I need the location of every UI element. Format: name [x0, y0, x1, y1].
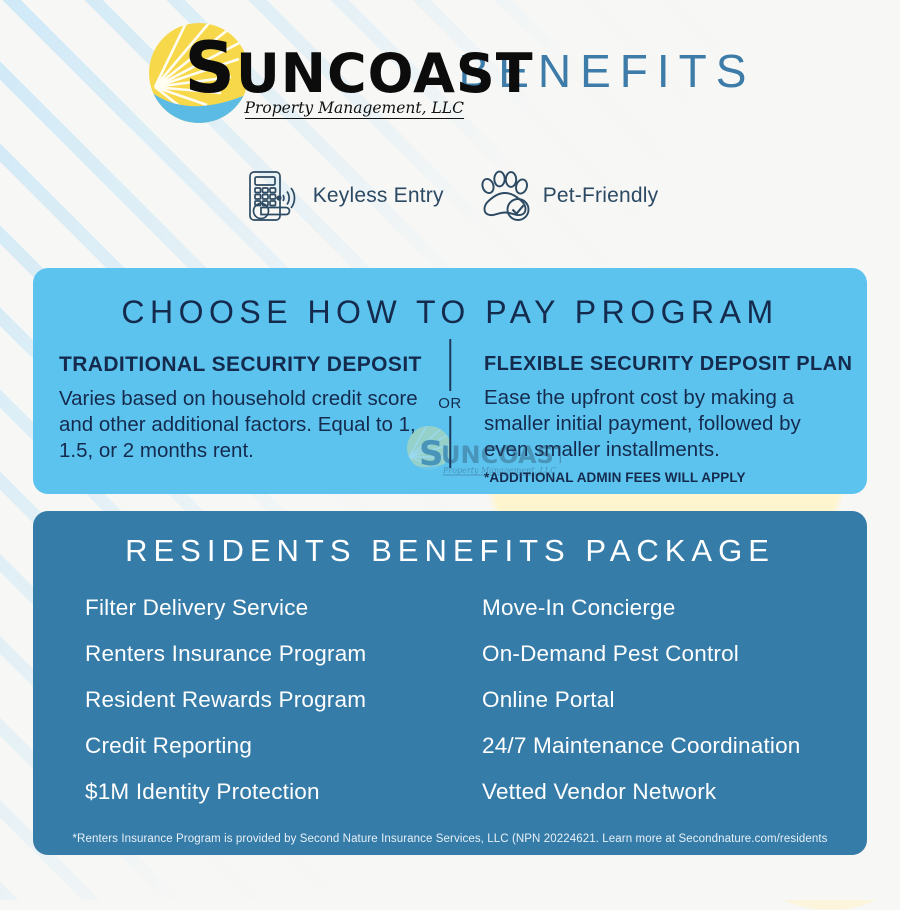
list-item: Move-In Concierge — [482, 595, 815, 621]
list-item: Filter Delivery Service — [85, 595, 450, 621]
list-item: Online Portal — [482, 687, 815, 713]
logo-word-cap: S — [185, 27, 236, 109]
list-item: Renters Insurance Program — [85, 641, 450, 667]
header: SUNCOAST Property Management, LLC BENEFI… — [0, 0, 900, 130]
feature-badges: Keyless Entry Pet-Friendly — [0, 146, 900, 246]
pay-option-body-flexible: Ease the upfront cost by making a smalle… — [484, 385, 841, 463]
residents-benefits-panel: RESIDENTS BENEFITS PACKAGE Filter Delive… — [33, 511, 867, 855]
logo-tagline: Property Management, LLC — [245, 99, 464, 119]
feature-pet-friendly: Pet-Friendly — [474, 165, 659, 227]
paw-check-icon — [474, 165, 536, 227]
feature-keyless-entry: Keyless Entry — [242, 164, 444, 228]
suncoast-logo: SUNCOAST Property Management, LLC — [145, 19, 445, 129]
pay-option-flexible: FLEXIBLE SECURITY DEPOSIT PLAN Ease the … — [450, 353, 841, 485]
admin-fees-note: *ADDITIONAL ADMIN FEES WILL APPLY — [484, 470, 841, 485]
list-item: On-Demand Pest Control — [482, 641, 815, 667]
feature-label-pet-friendly: Pet-Friendly — [543, 184, 659, 208]
list-item: Vetted Vendor Network — [482, 779, 815, 805]
or-label: OR — [438, 391, 462, 416]
list-item: $1M Identity Protection — [85, 779, 450, 805]
residents-panel-title: RESIDENTS BENEFITS PACKAGE — [59, 533, 841, 569]
logo-wordmark: SUNCOAST — [185, 33, 534, 103]
pay-option-body-traditional: Varies based on household credit score a… — [59, 386, 422, 464]
residents-footnote: *Renters Insurance Program is provided b… — [59, 833, 841, 845]
list-item: Credit Reporting — [85, 733, 450, 759]
or-divider: OR — [438, 339, 462, 489]
pay-option-heading-flexible: FLEXIBLE SECURITY DEPOSIT PLAN — [484, 353, 841, 376]
residents-benefits-list: Filter Delivery Service Renters Insuranc… — [59, 595, 841, 825]
divider-line-top — [449, 339, 451, 391]
keypad-lock-icon — [242, 164, 306, 228]
residents-benefits-left-column: Filter Delivery Service Renters Insuranc… — [85, 595, 450, 825]
divider-line-bottom — [449, 416, 451, 468]
list-item: Resident Rewards Program — [85, 687, 450, 713]
flyer-page: SUNCOAST Property Management, LLC BENEFI… — [0, 0, 900, 900]
feature-label-keyless-entry: Keyless Entry — [313, 184, 444, 208]
residents-benefits-right-column: Move-In Concierge On-Demand Pest Control… — [450, 595, 815, 825]
choose-how-to-pay-panel: CHOOSE HOW TO PAY PROGRAM TRADITIONAL SE… — [33, 268, 867, 494]
pay-option-traditional: TRADITIONAL SECURITY DEPOSIT Varies base… — [59, 353, 450, 485]
pay-panel-title: CHOOSE HOW TO PAY PROGRAM — [59, 294, 841, 331]
logo-word-rest: UNCOAST — [236, 42, 534, 105]
pay-option-heading-traditional: TRADITIONAL SECURITY DEPOSIT — [59, 353, 422, 377]
list-item: 24/7 Maintenance Coordination — [482, 733, 815, 759]
pay-options: TRADITIONAL SECURITY DEPOSIT Varies base… — [59, 353, 841, 485]
